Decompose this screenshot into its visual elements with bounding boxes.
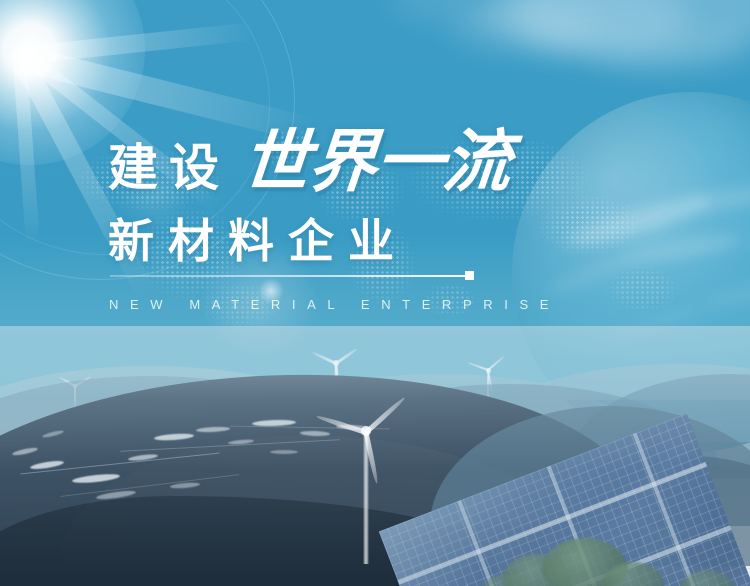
subtitle: NEW MATERIAL ENTERPRISE — [109, 297, 560, 312]
hero-banner: 建设 世界一流 新材料企业 NEW MATERIAL ENTERPRISE — [0, 0, 750, 586]
turbine-blade — [487, 355, 505, 371]
divider — [110, 271, 474, 281]
turbine-blade — [364, 396, 406, 435]
headline-block: 建设 世界一流 新材料企业 — [108, 128, 528, 267]
divider-line — [110, 275, 466, 277]
headline-light-text: 建设 — [108, 143, 230, 193]
headline-line-1: 建设 世界一流 — [108, 128, 528, 214]
landscape-scene — [0, 326, 750, 586]
turbine-blade — [467, 362, 488, 371]
snow-patch — [270, 450, 298, 454]
wind-turbine — [318, 392, 414, 564]
headline-line-2: 新材料企业 — [108, 216, 528, 267]
turbine-blade — [335, 347, 358, 364]
divider-end-cap — [465, 271, 474, 280]
turbine-blade — [316, 414, 367, 435]
turbine-blade — [312, 351, 337, 365]
headline-heavy-text: 世界一流 — [239, 128, 513, 196]
